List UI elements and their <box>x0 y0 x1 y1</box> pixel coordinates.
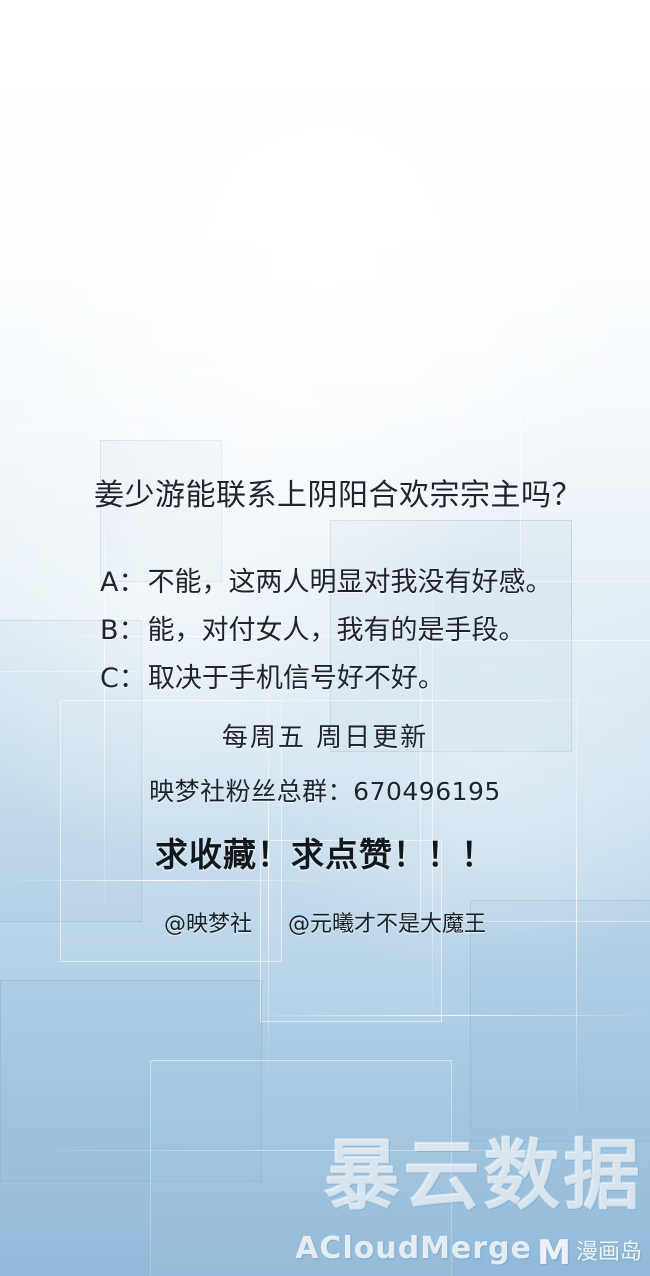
option-item-b[interactable]: B： 能，对付女人，我有的是手段。 <box>36 608 614 654</box>
option-text-a: 不能，这两人明显对我没有好感。 <box>147 560 614 606</box>
option-text-c: 取决于手机信号好不好。 <box>148 656 614 702</box>
watermark-english: ACloudMerge <box>295 1231 532 1266</box>
options-list: A： 不能，这两人明显对我没有好感。 B： 能，对付女人，我有的是手段。 C： … <box>36 560 614 703</box>
watermark-badge-mark: M <box>537 1236 571 1270</box>
option-item-a[interactable]: A： 不能，这两人明显对我没有好感。 <box>36 560 614 606</box>
option-key-a: A： <box>36 560 147 606</box>
option-key-b: B： <box>36 608 148 654</box>
credit-studio: @映梦社 <box>164 906 252 938</box>
credit-author: @元曦才不是大魔王 <box>288 906 486 938</box>
update-schedule-text: 每周五 周日更新 <box>36 717 614 754</box>
comic-panel: 姜少游能联系上阴阳合欢宗宗主吗？ A： 不能，这两人明显对我没有好感。 B： 能… <box>0 0 650 1276</box>
question-text: 姜少游能联系上阴阳合欢宗宗主吗？ <box>36 470 614 522</box>
panel-text-content: 姜少游能联系上阴阳合欢宗宗主吗？ A： 不能，这两人明显对我没有好感。 B： 能… <box>0 470 650 938</box>
watermark-badge: M 漫画岛 <box>537 1236 642 1270</box>
option-item-c[interactable]: C： 取决于手机信号好不好。 <box>36 656 614 702</box>
call-to-action-text: 求收藏！求点赞！！！ <box>36 828 614 876</box>
credits-row: @映梦社 @元曦才不是大魔王 <box>36 906 614 938</box>
watermark-chinese: 暴云数据 <box>324 1114 644 1224</box>
option-text-b: 能，对付女人，我有的是手段。 <box>148 608 614 654</box>
watermark-badge-name: 漫画岛 <box>576 1242 642 1264</box>
fan-group-text: 映梦社粉丝总群：670496195 <box>36 772 614 808</box>
option-key-c: C： <box>36 656 148 702</box>
